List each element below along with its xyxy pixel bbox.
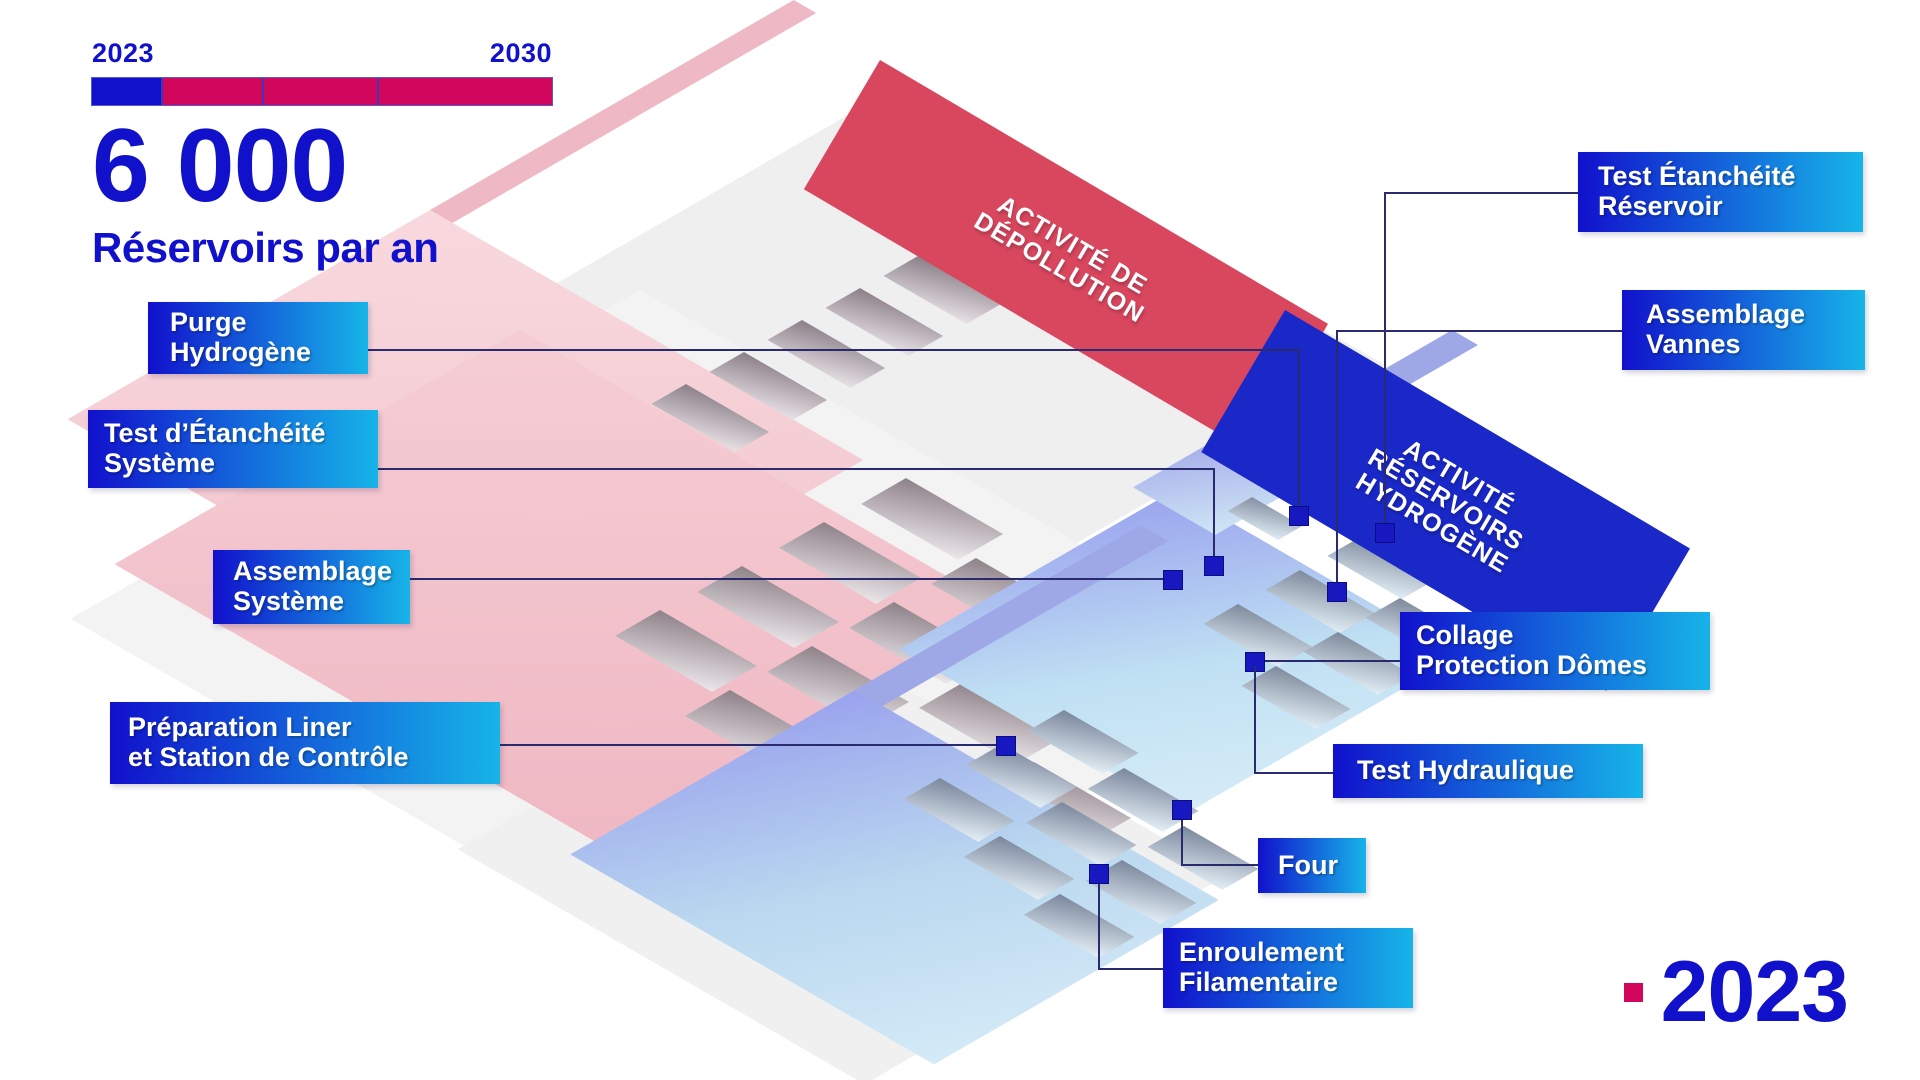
wire-test-hydraulique-v bbox=[1254, 666, 1256, 774]
label-test-etancheite-systeme[interactable]: Test d’Étanchéité Système bbox=[88, 410, 378, 488]
wire-assemblage-vannes-v bbox=[1336, 330, 1338, 590]
node-test-etancheite-systeme bbox=[1204, 556, 1224, 576]
wire-enroulement-h bbox=[1098, 968, 1166, 970]
wire-purge-hydrogene-h bbox=[368, 349, 1300, 351]
wire-four-h bbox=[1181, 864, 1261, 866]
timeline-years: 2023 2030 bbox=[92, 38, 552, 69]
label-enroulement-filamentaire[interactable]: Enroulement Filamentaire bbox=[1163, 928, 1413, 1008]
timeline-year-start: 2023 bbox=[92, 38, 154, 69]
label-test-etancheite-reservoir[interactable]: Test Étanchéité Réservoir bbox=[1578, 152, 1863, 232]
wire-test-etancheite-reservoir-v bbox=[1384, 192, 1386, 532]
node-four bbox=[1172, 800, 1192, 820]
infographic-canvas: ACTIVITÉ DE DÉPOLLUTION ACTIVITÉ RÉSERVO… bbox=[0, 0, 1920, 1080]
node-assemblage-systeme bbox=[1163, 570, 1183, 590]
label-purge-hydrogene[interactable]: Purge Hydrogène bbox=[148, 302, 368, 374]
wire-preparation-liner-h bbox=[500, 744, 1005, 746]
label-four[interactable]: Four bbox=[1258, 838, 1366, 893]
wire-enroulement-v bbox=[1098, 874, 1100, 970]
label-test-hydraulique-text: Test Hydraulique bbox=[1357, 756, 1574, 786]
wire-test-etancheite-reservoir-h bbox=[1384, 192, 1580, 194]
label-assemblage-systeme-text: Assemblage Système bbox=[233, 557, 392, 616]
wire-assemblage-systeme-h bbox=[410, 578, 1172, 580]
label-four-text: Four bbox=[1278, 851, 1338, 881]
footer-year: 2023 bbox=[1661, 943, 1848, 1042]
label-test-hydraulique[interactable]: Test Hydraulique bbox=[1333, 744, 1643, 798]
timeline-bar bbox=[92, 78, 552, 105]
wire-purge-hydrogene-v bbox=[1298, 349, 1300, 514]
header-block: 2023 2030 6 000 Réservoirs par an bbox=[92, 38, 552, 272]
label-enroulement-filamentaire-text: Enroulement Filamentaire bbox=[1179, 938, 1344, 997]
label-collage-protection-domes-text: Collage Protection Dômes bbox=[1416, 621, 1647, 680]
label-test-etancheite-systeme-text: Test d’Étanchéité Système bbox=[104, 419, 326, 478]
label-assemblage-vannes[interactable]: Assemblage Vannes bbox=[1622, 290, 1865, 370]
node-purge-hydrogene bbox=[1289, 506, 1309, 526]
banner-reservoirs-hydrogene-label: ACTIVITÉ RÉSERVOIRS HYDROGÈNE bbox=[1350, 422, 1541, 579]
label-assemblage-systeme[interactable]: Assemblage Système bbox=[213, 550, 410, 624]
label-preparation-liner-text: Préparation Liner et Station de Contrôle bbox=[128, 713, 409, 772]
headline-subtitle: Réservoirs par an bbox=[92, 224, 552, 272]
timeline-segment-2 bbox=[262, 78, 377, 105]
label-preparation-liner[interactable]: Préparation Liner et Station de Contrôle bbox=[110, 702, 500, 784]
timeline-segment-1 bbox=[161, 78, 262, 105]
label-purge-hydrogene-text: Purge Hydrogène bbox=[170, 308, 311, 367]
wire-test-etancheite-systeme-v bbox=[1213, 468, 1215, 564]
headline-number: 6 000 bbox=[92, 117, 552, 216]
timeline-segment-3 bbox=[377, 78, 552, 105]
timeline-segment-0 bbox=[92, 78, 161, 105]
footer-block: 2023 bbox=[1624, 943, 1848, 1042]
node-preparation-liner bbox=[996, 736, 1016, 756]
label-collage-protection-domes[interactable]: Collage Protection Dômes bbox=[1400, 612, 1710, 690]
timeline-year-end: 2030 bbox=[490, 38, 552, 69]
footer-square-icon bbox=[1624, 983, 1643, 1002]
node-assemblage-vannes bbox=[1327, 582, 1347, 602]
wire-assemblage-vannes-h bbox=[1336, 330, 1624, 332]
wire-test-hydraulique-h bbox=[1254, 772, 1336, 774]
node-enroulement-filamentaire bbox=[1089, 864, 1109, 884]
wire-collage-protection-domes-h bbox=[1254, 660, 1402, 662]
node-test-etancheite-reservoir bbox=[1375, 523, 1395, 543]
label-assemblage-vannes-text: Assemblage Vannes bbox=[1646, 300, 1805, 359]
wire-test-etancheite-systeme-h bbox=[378, 468, 1215, 470]
label-test-etancheite-reservoir-text: Test Étanchéité Réservoir bbox=[1598, 162, 1796, 221]
